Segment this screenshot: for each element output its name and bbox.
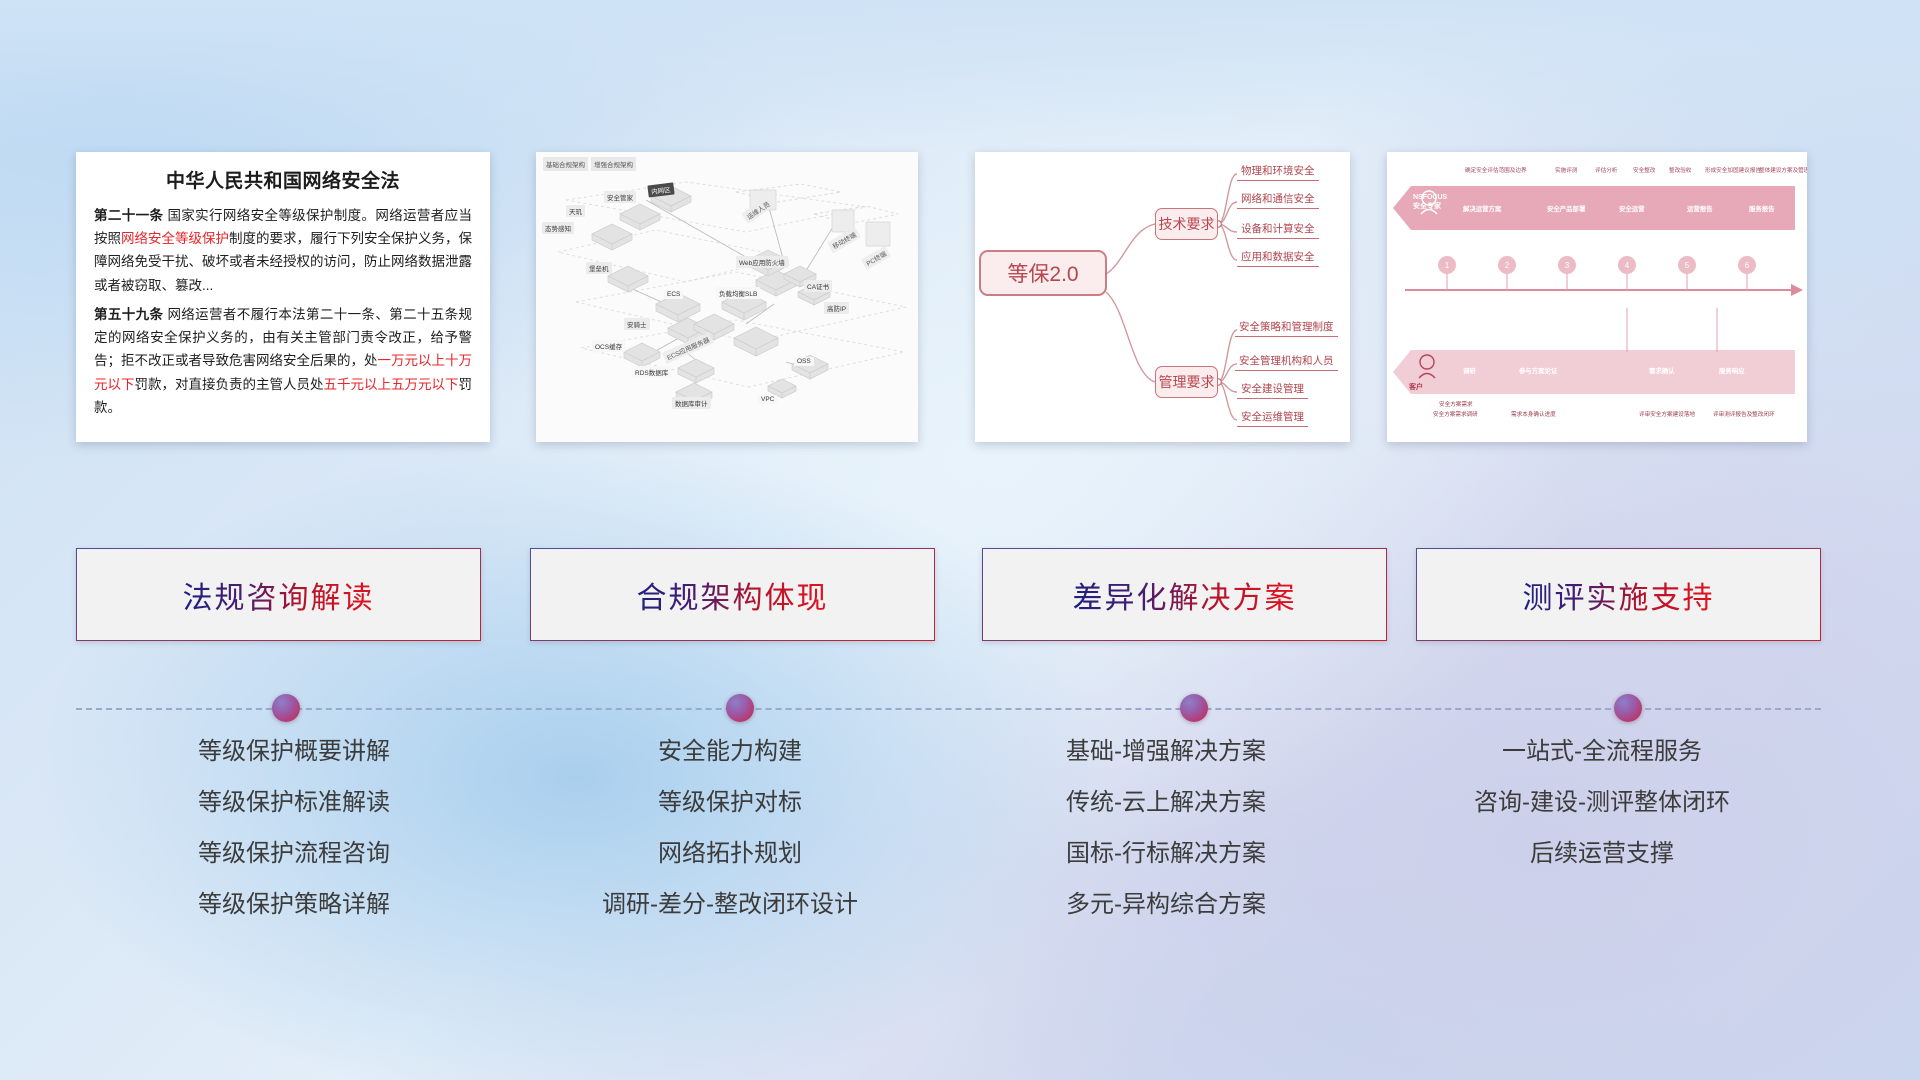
law-title: 中华人民共和国网络安全法: [94, 166, 472, 193]
service-flow-bottom-label: 评审安全方案建设落地: [1639, 410, 1695, 418]
list-item: 国标-行标解决方案: [1066, 842, 1266, 866]
service-flow-brand: NSFOCUS 安全专家: [1413, 194, 1447, 212]
mindmap-canvas: 等保2.0 技术要求 管理要求 物理和环境安全 网络和通信安全 设备和计算安全 …: [975, 152, 1350, 442]
service-flow-customer-label: 客户: [1409, 384, 1423, 393]
service-flow-phase: 解决运营方案: [1463, 204, 1501, 213]
timeline-dot-3[interactable]: [1180, 694, 1208, 722]
mindmap-branch-management[interactable]: 管理要求: [1155, 366, 1218, 398]
list-item: 基础-增强解决方案: [1066, 740, 1266, 764]
law-article-59-highlight-2: 五千元以上五万元以下: [324, 377, 459, 392]
architecture-label-db-audit: 数据库审计: [672, 397, 711, 409]
law-article-59-label: 第五十九条: [94, 307, 163, 322]
service-flow-bottom-note: 安全方案需求: [1439, 400, 1473, 408]
service-flow-step: 2: [1498, 256, 1516, 274]
service-flow-bottom-label: 安全方案需求调研: [1433, 410, 1478, 418]
architecture-label-anti-ddos-ip: 高防IP: [824, 302, 849, 314]
pill-button-regulation-consulting[interactable]: 法规咨询解读: [76, 548, 481, 641]
service-flow-bottom-phase: 调研: [1463, 366, 1476, 375]
service-flow-bottom-phase: 服务响应: [1719, 366, 1745, 375]
mindmap-leaf: 物理和环境安全: [1237, 163, 1319, 181]
architecture-label-slb: 负载均衡SLB: [716, 287, 760, 299]
law-article-21-label: 第二十一条: [94, 208, 163, 223]
mindmap-leaf: 安全策略和管理制度: [1235, 319, 1338, 337]
mindmap-leaf: 安全管理机构和人员: [1235, 353, 1338, 371]
service-flow-step: 4: [1618, 256, 1636, 274]
law-article-21: 第二十一条 国家实行网络安全等级保护制度。网络运营者应当按照网络安全等级保护制度…: [94, 204, 472, 297]
list-item: 传统-云上解决方案: [1066, 791, 1266, 815]
list-item: 网络拓扑规划: [658, 842, 802, 866]
architecture-label-ocs-cache: OCS缓存: [592, 340, 625, 352]
service-flow-bottom-label: 评审测评报告及整改闭环: [1713, 410, 1775, 418]
service-flow-bottom-phase: 参与方案论证: [1519, 366, 1557, 375]
list-item: 安全能力构建: [658, 740, 802, 764]
architecture-label-security-steward: 安全管家: [604, 191, 636, 203]
list-item: 后续运营支撑: [1530, 842, 1674, 866]
service-flow-top-note: 确定安全评估范围及边界: [1465, 166, 1527, 174]
architecture-label-anqishi: 安骑士: [624, 318, 650, 330]
service-flow-phase: 运营报告: [1687, 204, 1713, 213]
service-flow-phase: 安全产品部署: [1547, 204, 1585, 213]
service-flow-phase: 服务报告: [1749, 204, 1775, 213]
pill-label: 测评实施支持: [1523, 573, 1715, 617]
architecture-label-bastion-host: 堡垒机: [586, 262, 612, 274]
card-law-document[interactable]: 中华人民共和国网络安全法 第二十一条 国家实行网络安全等级保护制度。网络运营者应…: [76, 152, 490, 442]
pill-button-assessment-support[interactable]: 测评实施支持: [1416, 548, 1821, 641]
service-flow-bottom-label: 需求本身确认进度: [1511, 410, 1556, 418]
card-architecture-diagram[interactable]: 基础合规架构 增强合规架构: [536, 152, 918, 442]
architecture-canvas: 基础合规架构 增强合规架构: [536, 152, 918, 442]
service-flow-phase: 安全运营: [1619, 204, 1645, 213]
timeline: [76, 694, 1821, 724]
service-flow-step: 6: [1738, 256, 1756, 274]
timeline-dot-2[interactable]: [726, 694, 754, 722]
list-item: 等级保护标准解读: [198, 791, 390, 815]
cards-row: 中华人民共和国网络安全法 第二十一条 国家实行网络安全等级保护制度。网络运营者应…: [0, 0, 1920, 460]
pill-label: 差异化解决方案: [1073, 573, 1297, 617]
list-item: 等级保护对标: [658, 791, 802, 815]
architecture-label-ecs: ECS: [664, 290, 683, 299]
architecture-label-tianji: 天玑: [566, 205, 585, 217]
card-service-flow[interactable]: NSFOCUS 安全专家 确定安全评估范围及边界 实施评测 评估分析 安全整改 …: [1387, 152, 1807, 442]
timeline-dashed-line: [76, 708, 1821, 710]
mindmap-branch-technical[interactable]: 技术要求: [1155, 208, 1218, 240]
architecture-label-vpc: VPC: [758, 395, 777, 404]
service-flow-vectors: [1387, 152, 1807, 442]
architecture-label-situation-awareness: 态势感知: [542, 222, 574, 234]
timeline-dot-1[interactable]: [272, 694, 300, 722]
detail-column-1: 等级保护概要讲解 等级保护标准解读 等级保护流程咨询 等级保护策略详解: [76, 740, 512, 944]
service-flow-top-note: 整改验收: [1669, 166, 1691, 174]
law-article-21-highlight: 网络安全等级保护: [121, 231, 229, 246]
detail-column-2: 安全能力构建 等级保护对标 网络拓扑规划 调研-差分-整改闭环设计: [512, 740, 948, 944]
architecture-label-rds: RDS数据库: [632, 366, 671, 378]
list-item: 咨询-建设-测评整体闭环: [1474, 791, 1730, 815]
mindmap-leaf: 应用和数据安全: [1237, 249, 1319, 267]
detail-column-3: 基础-增强解决方案 传统-云上解决方案 国标-行标解决方案 多元-异构综合方案: [948, 740, 1384, 944]
law-article-59: 第五十九条 网络运营者不履行本法第二十一条、第二十五条规定的网络安全保护义务的，…: [94, 303, 472, 419]
service-flow-top-note: 评估分析: [1595, 166, 1617, 174]
service-flow-top-note: 形成安全加固建议报告: [1705, 166, 1761, 174]
list-item: 调研-差分-整改闭环设计: [602, 893, 858, 917]
mindmap-leaf: 设备和计算安全: [1237, 221, 1319, 239]
mindmap-leaf: 安全运维管理: [1237, 409, 1308, 427]
pill-label: 法规咨询解读: [183, 573, 375, 617]
law-article-59-text-b: 罚款，对直接负责的主管人员处: [135, 377, 324, 392]
list-item: 等级保护概要讲解: [198, 740, 390, 764]
list-item: 等级保护流程咨询: [198, 842, 390, 866]
list-item: 等级保护策略详解: [198, 893, 390, 917]
service-flow-top-note: 整体建设方案及管理制度建设: [1759, 166, 1807, 174]
service-flow-canvas: NSFOCUS 安全专家 确定安全评估范围及边界 实施评测 评估分析 安全整改 …: [1387, 152, 1807, 442]
mindmap-leaf: 安全建设管理: [1237, 381, 1308, 399]
service-flow-top-note: 实施评测: [1555, 166, 1577, 174]
pill-label: 合规架构体现: [637, 573, 829, 617]
pill-button-compliance-architecture[interactable]: 合规架构体现: [530, 548, 935, 641]
timeline-dot-4[interactable]: [1614, 694, 1642, 722]
service-flow-step: 1: [1438, 256, 1456, 274]
detail-columns: 等级保护概要讲解 等级保护标准解读 等级保护流程咨询 等级保护策略详解 安全能力…: [76, 740, 1821, 944]
architecture-label-oss: OSS: [794, 357, 814, 366]
service-flow-top-note: 安全整改: [1633, 166, 1655, 174]
pill-button-differentiated-solution[interactable]: 差异化解决方案: [982, 548, 1387, 641]
service-flow-brand-line1: NSFOCUS: [1413, 194, 1447, 201]
list-item: 多元-异构综合方案: [1066, 893, 1266, 917]
mindmap-leaf: 网络和通信安全: [1237, 191, 1319, 209]
card-mindmap[interactable]: 等保2.0 技术要求 管理要求 物理和环境安全 网络和通信安全 设备和计算安全 …: [975, 152, 1350, 442]
mindmap-root-node[interactable]: 等保2.0: [979, 250, 1107, 296]
list-item: 一站式-全流程服务: [1502, 740, 1702, 764]
service-flow-brand-line2: 安全专家: [1413, 203, 1441, 210]
service-flow-step: 5: [1678, 256, 1696, 274]
architecture-label-waf: Web应用防火墙: [736, 256, 788, 268]
detail-column-4: 一站式-全流程服务 咨询-建设-测评整体闭环 后续运营支撑: [1384, 740, 1820, 944]
service-flow-bottom-phase: 需求确认: [1649, 366, 1675, 375]
law-document-body: 中华人民共和国网络安全法 第二十一条 国家实行网络安全等级保护制度。网络运营者应…: [76, 152, 490, 427]
service-flow-step: 3: [1558, 256, 1576, 274]
architecture-label-ca-cert: CA证书: [804, 280, 832, 292]
